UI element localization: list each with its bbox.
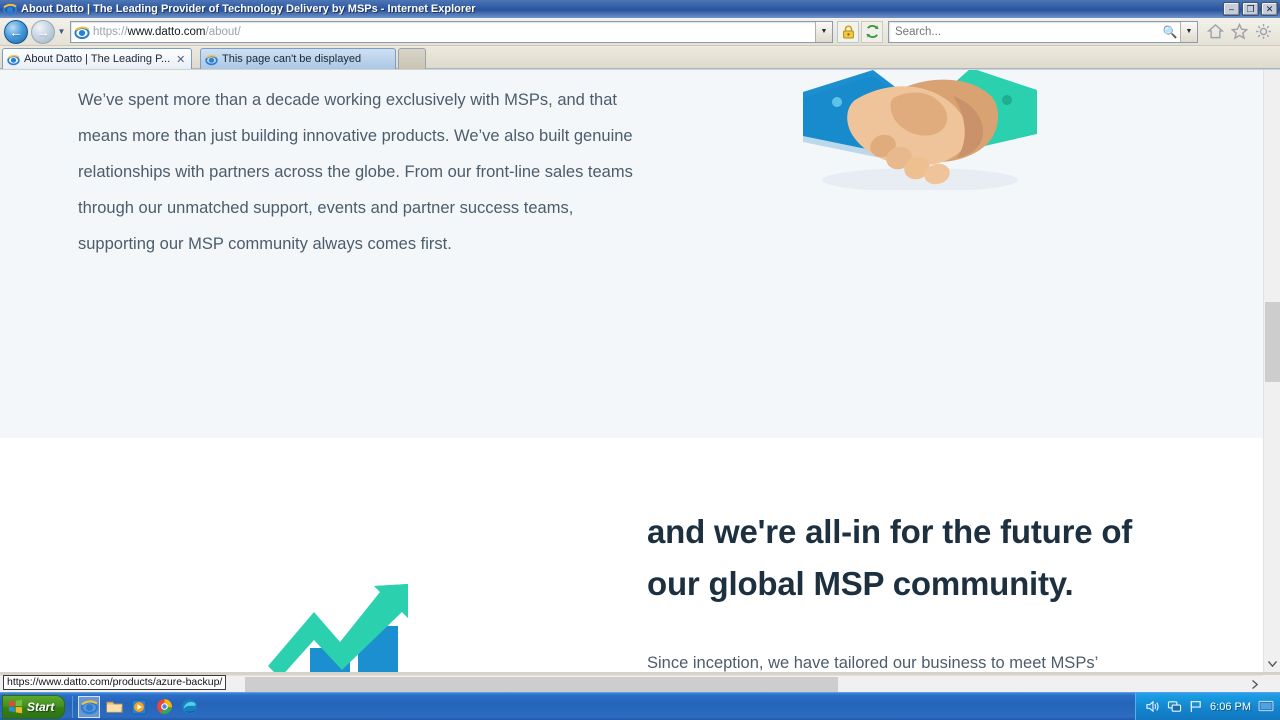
command-icons: [1207, 23, 1272, 40]
intro-paragraph: We’ve spent more than a decade working e…: [78, 82, 638, 262]
scroll-right-icon[interactable]: [1246, 676, 1263, 693]
taskbar-media-player[interactable]: [128, 696, 150, 718]
scroll-down-icon[interactable]: [1264, 655, 1280, 672]
taskbar-clock[interactable]: 6:06 PM: [1210, 701, 1251, 713]
chrome-icon: [156, 698, 173, 715]
internet-explorer-icon: [81, 698, 98, 715]
scroll-up-icon[interactable]: chevron-up-icon: [1264, 70, 1280, 87]
page-subcopy: Since inception, we have tailored our bu…: [647, 648, 1167, 672]
network-icon[interactable]: [1167, 700, 1182, 713]
taskbar-microsoft-edge[interactable]: [178, 696, 200, 718]
back-button[interactable]: ←: [4, 20, 28, 44]
start-label: Start: [27, 700, 54, 714]
padlock-glyph: [842, 25, 855, 39]
taskbar-internet-explorer[interactable]: [78, 696, 100, 718]
system-tray: 6:06 PM: [1135, 693, 1280, 720]
folder-icon: [106, 699, 123, 714]
recent-pages-dropdown[interactable]: ▼: [55, 20, 68, 44]
address-scheme: https://: [93, 26, 128, 38]
browser-window: About Datto | The Leading Provider of Te…: [0, 0, 1280, 720]
home-icon[interactable]: [1207, 23, 1224, 40]
scrollbar-corner: [1263, 675, 1280, 692]
page-headline: and we're all-in for the future of our g…: [647, 506, 1167, 610]
quick-launch-bar: [72, 696, 200, 718]
tab-favicon-icon: [7, 53, 20, 66]
tab-label: About Datto | The Leading P...: [24, 53, 170, 65]
flag-icon[interactable]: [1189, 700, 1203, 713]
address-site-icon: [74, 24, 90, 40]
tab-favicon-icon: [205, 53, 218, 66]
show-desktop-icon[interactable]: [1258, 700, 1274, 713]
windows-logo-icon: [8, 699, 23, 714]
start-button[interactable]: Start: [2, 695, 65, 719]
media-player-icon: [131, 699, 147, 715]
refresh-icon: [865, 24, 880, 39]
search-box[interactable]: 🔍 ▼: [888, 21, 1198, 43]
title-bar: About Datto | The Leading Provider of Te…: [0, 0, 1280, 18]
close-button[interactable]: ✕: [1261, 2, 1278, 16]
vertical-scrollbar[interactable]: chevron-up-icon: [1263, 70, 1280, 672]
forward-button[interactable]: →: [31, 20, 55, 44]
address-host: www.datto.com: [128, 26, 206, 38]
gear-icon[interactable]: [1255, 23, 1272, 40]
handshake-illustration: [795, 70, 1045, 190]
taskbar-google-chrome[interactable]: [153, 696, 175, 718]
vertical-scroll-thumb[interactable]: [1265, 302, 1280, 382]
window-title: About Datto | The Leading Provider of Te…: [21, 3, 476, 15]
search-dropdown-button[interactable]: ▼: [1180, 22, 1197, 42]
tab-about-datto[interactable]: About Datto | The Leading P... ✕: [2, 48, 192, 69]
restore-button[interactable]: ❐: [1242, 2, 1259, 16]
tab-page-cannot-be-displayed[interactable]: This page can't be displayed: [200, 48, 396, 69]
tab-bar: About Datto | The Leading P... ✕ This pa…: [0, 46, 1280, 69]
tab-label: This page can't be displayed: [222, 53, 361, 65]
star-icon[interactable]: [1231, 23, 1248, 40]
new-tab-button[interactable]: [398, 48, 426, 69]
address-text: https://www.datto.com/about/: [93, 26, 241, 38]
search-input[interactable]: [889, 26, 1160, 38]
ie-logo-icon: [3, 2, 17, 16]
status-bar-link-url: https://www.datto.com/products/azure-bac…: [3, 675, 226, 690]
web-page: We’ve spent more than a decade working e…: [0, 70, 1263, 672]
edge-icon: [181, 698, 198, 715]
address-path: /about/: [206, 26, 241, 38]
tab-close-icon[interactable]: ✕: [176, 53, 185, 66]
window-controls: – ❐ ✕: [1223, 2, 1278, 16]
address-bar[interactable]: https://www.datto.com/about/ ▼: [70, 21, 833, 43]
speaker-icon[interactable]: [1145, 700, 1160, 713]
refresh-button[interactable]: [861, 21, 883, 43]
taskbar: Start: [0, 692, 1280, 720]
growth-chart-illustration: [262, 570, 442, 672]
padlock-icon[interactable]: [837, 21, 859, 43]
minimize-button[interactable]: –: [1223, 2, 1240, 16]
search-icon[interactable]: 🔍: [1160, 25, 1180, 39]
taskbar-file-explorer[interactable]: [103, 696, 125, 718]
address-dropdown-button[interactable]: ▼: [815, 22, 832, 42]
horizontal-scroll-thumb[interactable]: [245, 677, 838, 692]
navigation-toolbar: ← → ▼ https://www.datto.com/about/ ▼: [0, 18, 1280, 46]
page-viewport: We’ve spent more than a decade working e…: [0, 70, 1263, 672]
